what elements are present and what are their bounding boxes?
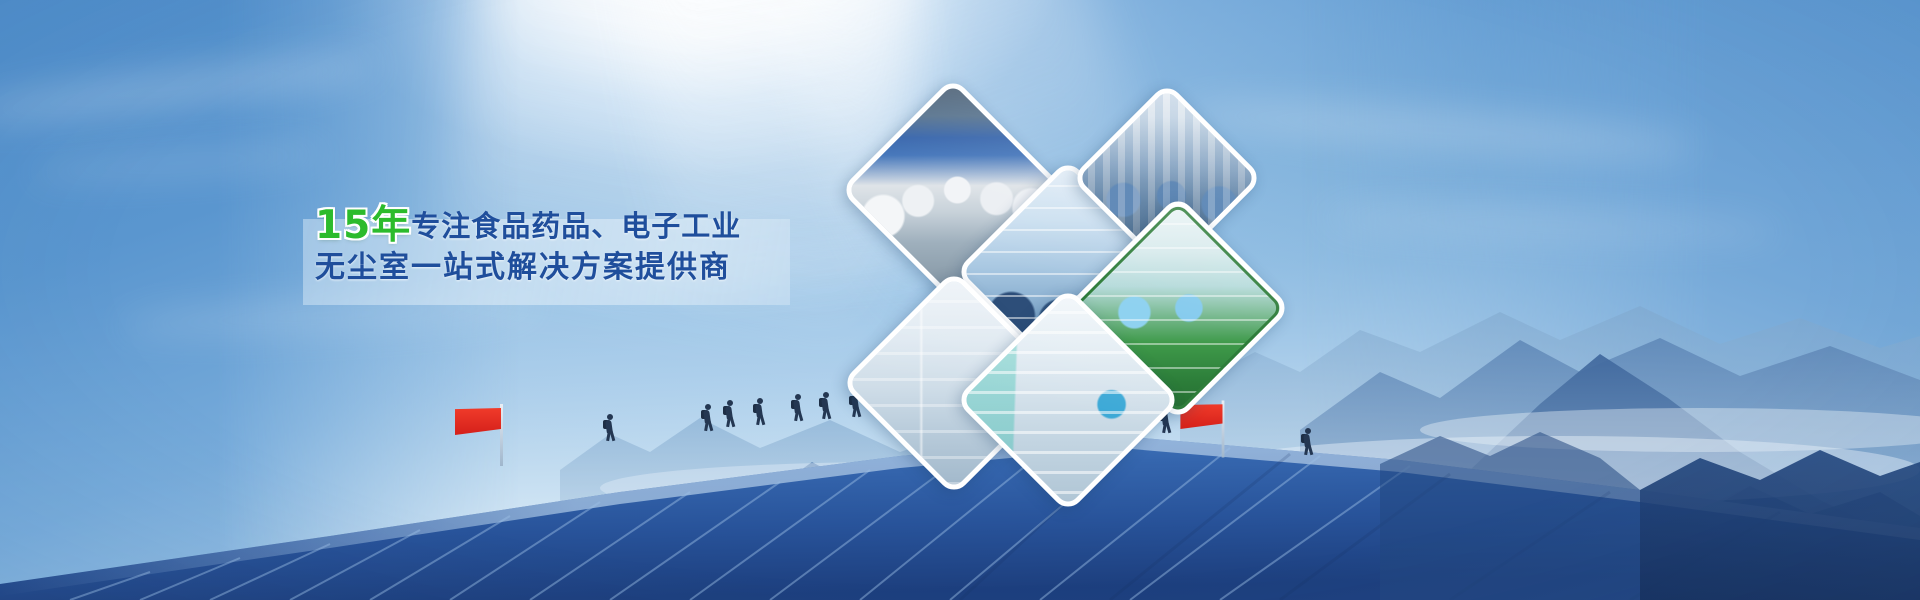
climber-silhouette (1300, 428, 1316, 454)
climber-silhouette (790, 394, 806, 420)
headline-line-2: 无尘室一站式解决方案提供商 (315, 250, 731, 285)
years-highlight: 15年 (315, 203, 411, 248)
climber-silhouette (602, 414, 618, 440)
climber-silhouette (722, 400, 738, 426)
headline-line-1: 专注食品药品、电子工业 (411, 209, 741, 243)
climber-silhouette (700, 404, 716, 430)
climber-silhouette (818, 392, 834, 418)
hero-banner: 15年专注食品药品、电子工业 无尘室一站式解决方案提供商 (0, 0, 1920, 600)
climber-silhouette (752, 398, 768, 424)
red-flag-left (455, 404, 511, 466)
flag-cloth (455, 408, 501, 435)
headline-block: 15年专注食品药品、电子工业 无尘室一站式解决方案提供商 (315, 205, 785, 289)
diamond-photo-collage (836, 88, 1286, 468)
